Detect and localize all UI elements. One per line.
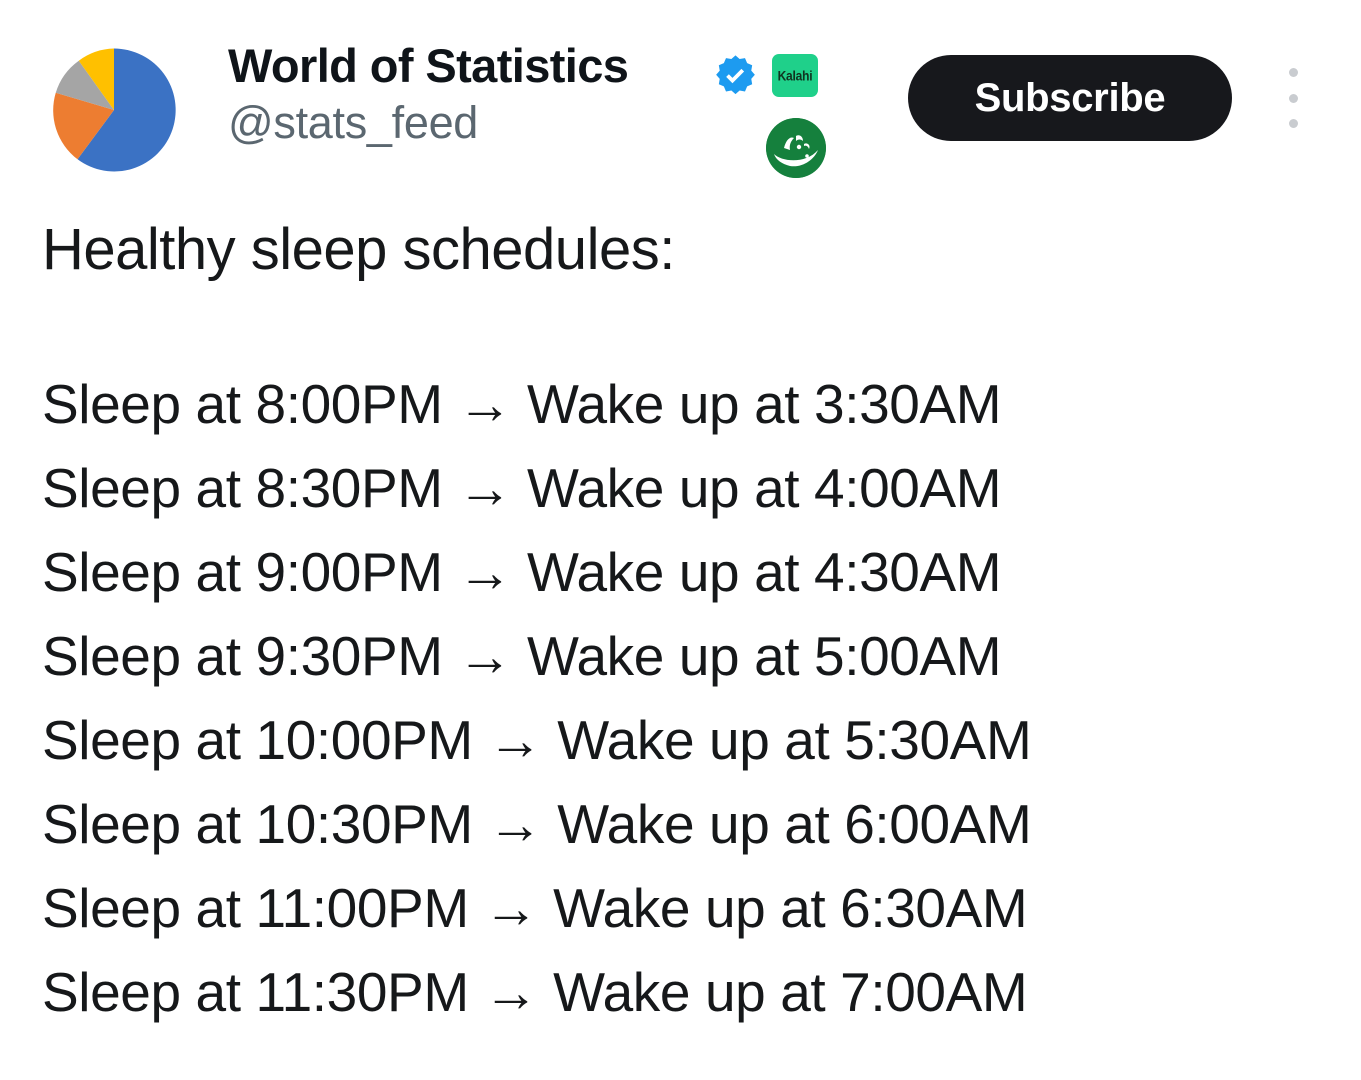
affiliate-badge-label: Kalahi (778, 67, 813, 83)
post-header: World of Statistics @stats_feed Kalahi S… (0, 0, 1361, 190)
list-item: Sleep at 10:00PM → Wake up at 5:30AM (42, 698, 1322, 782)
menu-dot (1289, 119, 1298, 128)
verified-check-icon (714, 54, 757, 97)
display-name[interactable]: World of Statistics (228, 38, 788, 94)
affiliate-badge[interactable]: Kalahi (772, 54, 818, 97)
list-item: Sleep at 9:00PM → Wake up at 4:30AM (42, 530, 1322, 614)
green-circular-calligraphy-logo-icon[interactable] (766, 118, 826, 178)
list-item: Sleep at 9:30PM → Wake up at 5:00AM (42, 614, 1322, 698)
list-item: Sleep at 11:00PM → Wake up at 6:30AM (42, 866, 1322, 950)
list-item: Sleep at 8:00PM → Wake up at 3:30AM (42, 362, 1322, 446)
subscribe-button[interactable]: Subscribe (908, 55, 1232, 141)
menu-dot (1289, 94, 1298, 103)
avatar[interactable] (46, 46, 182, 174)
list-item: Sleep at 8:30PM → Wake up at 4:00AM (42, 446, 1322, 530)
list-item: Sleep at 11:30PM → Wake up at 7:00AM (42, 950, 1322, 1034)
sleep-schedule-list: Sleep at 8:00PM → Wake up at 3:30AM Slee… (42, 362, 1322, 1034)
more-vertical-icon[interactable] (1278, 68, 1308, 128)
menu-dot (1289, 68, 1298, 77)
list-item: Sleep at 10:30PM → Wake up at 6:00AM (42, 782, 1322, 866)
identity-block: World of Statistics @stats_feed (228, 38, 788, 152)
post-title: Healthy sleep schedules: (42, 214, 1322, 286)
post-body: Healthy sleep schedules: Sleep at 8:00PM… (42, 214, 1322, 1034)
handle[interactable]: @stats_feed (228, 94, 788, 152)
pie-chart-avatar-icon (46, 46, 182, 174)
